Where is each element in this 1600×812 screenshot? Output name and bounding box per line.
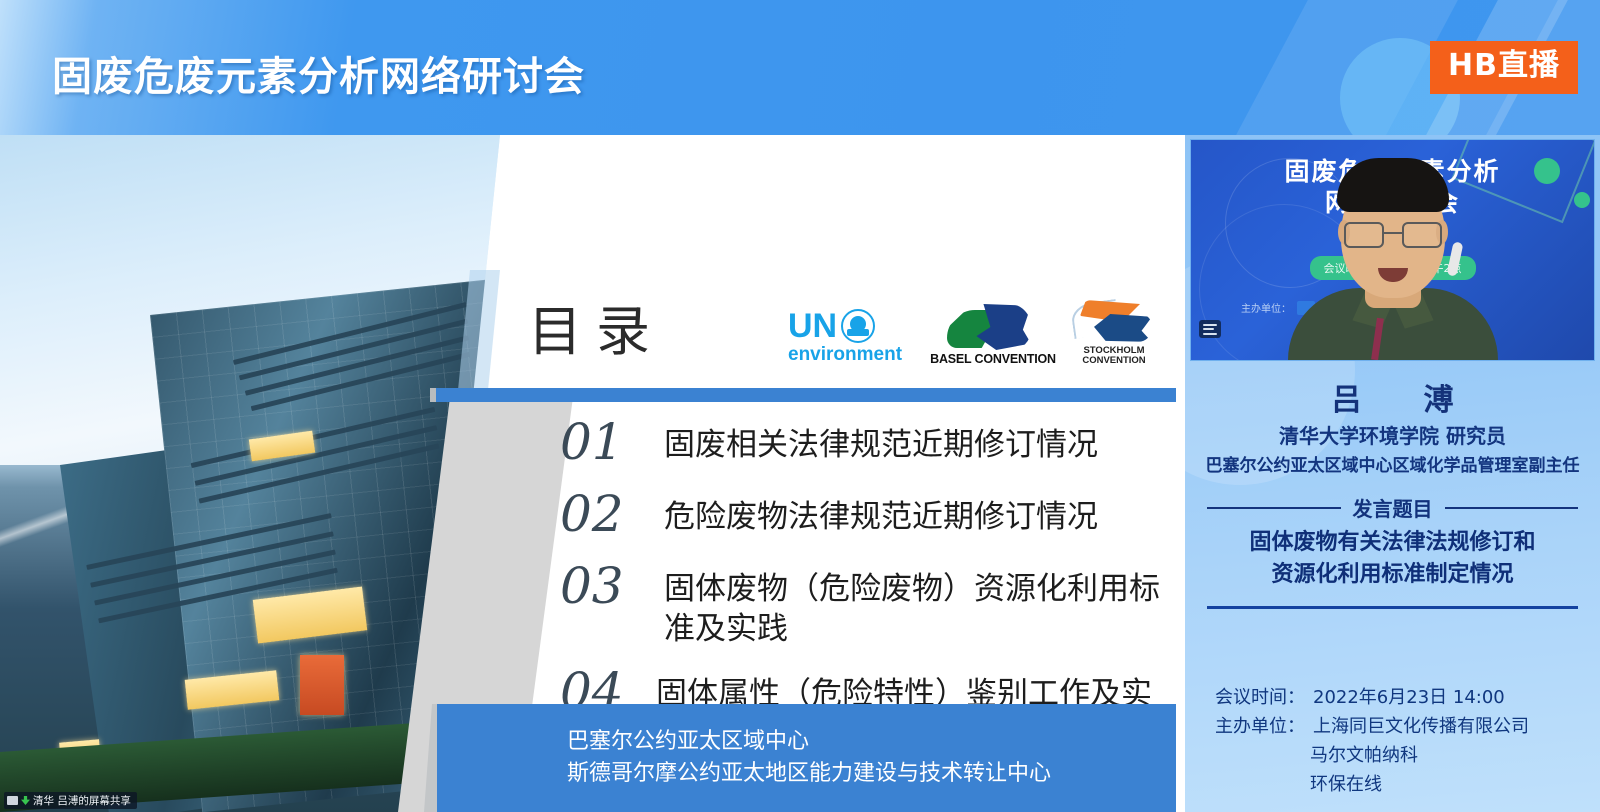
meeting-host-label: 主办单位： xyxy=(1215,712,1305,741)
stockholm-convention-logo: STOCKHOLM CONVENTION xyxy=(1068,298,1160,366)
topic-underline xyxy=(1207,606,1578,609)
meeting-host-value2: 马尔文帕纳科 xyxy=(1215,741,1529,770)
page-title: 固废危废元素分析网络研讨会 xyxy=(52,44,585,102)
agenda-item: 03 固体废物（危险废物）资源化利用标准及实践 xyxy=(560,561,1170,650)
speaker-name: 吕 溥 xyxy=(1185,375,1600,419)
download-arrow-icon xyxy=(21,796,30,805)
stockholm-logo-line2: CONVENTION xyxy=(1068,356,1160,366)
agenda-item: 01 固废相关法律规范近期修订情况 xyxy=(560,417,1170,467)
divider-line xyxy=(1207,507,1341,509)
meeting-info: 会议时间： 2022年6月23日 14:00 主办单位： 上海同巨文化传播有限公… xyxy=(1215,683,1529,800)
organization-logos: UN environment BASEL CONVENTION xyxy=(788,298,1160,366)
speaker-topic-title: 固体废物有关法律法规修订和 资源化利用标准制定情况 xyxy=(1199,527,1586,591)
un-logo-subtext: environment xyxy=(788,344,918,366)
screen-share-indicator[interactable]: 清华 吕溥的屏幕共享 xyxy=(4,792,137,809)
agenda-item-label: 固废相关法律规范近期修订情况 xyxy=(664,417,1098,465)
slide-footer-line2: 斯德哥尔摩公约亚太地区能力建设与技术转让中心 xyxy=(567,758,1051,790)
speaker-figure xyxy=(1288,160,1498,360)
un-logo-word: UN xyxy=(788,311,837,342)
agenda-item-label: 危险废物法律规范近期修订情况 xyxy=(664,489,1098,537)
speaker-organization: 巴塞尔公约亚太区域中心区域化学品管理室副主任 xyxy=(1185,451,1600,476)
earpiece-icon xyxy=(1446,241,1463,276)
monitor-icon xyxy=(7,796,18,805)
live-badge: HB直播 xyxy=(1430,41,1578,94)
meeting-host-row: 主办单位： 上海同巨文化传播有限公司 xyxy=(1215,712,1529,741)
glasses-icon xyxy=(1344,222,1442,248)
video-menu-icon[interactable] xyxy=(1199,320,1221,338)
speaker-panel: 固废危废元素分析 网络研讨会 会议时间：6月23日下午2点 主办单位： xyxy=(1185,135,1600,812)
basel-convention-logo: BASEL CONVENTION xyxy=(928,304,1058,366)
meeting-time-row: 会议时间： 2022年6月23日 14:00 xyxy=(1215,683,1529,712)
shared-slide[interactable]: 目录 UN environment BASEL CONVENTION xyxy=(0,135,1176,812)
speaker-role: 清华大学环境学院 研究员 xyxy=(1185,420,1600,449)
meeting-time-label: 会议时间： xyxy=(1215,683,1305,712)
meeting-time-value: 2022年6月23日 14:00 xyxy=(1305,683,1505,712)
speaker-topic-line1: 固体废物有关法律法规修订和 xyxy=(1199,527,1586,559)
lit-window xyxy=(300,655,344,715)
screen-share-label: 清华 吕溥的屏幕共享 xyxy=(33,793,131,808)
agenda-item-number: 02 xyxy=(560,489,664,539)
video-backdrop-host-label: 主办单位： xyxy=(1241,300,1291,315)
slide-heading: 目录 xyxy=(528,287,664,366)
speaker-topic-line2: 资源化利用标准制定情况 xyxy=(1199,559,1586,591)
un-emblem-icon xyxy=(841,309,875,343)
speaker-hair xyxy=(1337,158,1449,212)
agenda-item: 02 危险废物法律规范近期修订情况 xyxy=(560,489,1170,539)
agenda-item-number: 03 xyxy=(560,561,664,611)
agenda-item-label: 固体废物（危险废物）资源化利用标准及实践 xyxy=(664,561,1170,650)
topic-divider: 发言题目 xyxy=(1207,493,1578,522)
stockholm-mark-icon xyxy=(1072,298,1156,344)
meeting-host-value3: 环保在线 xyxy=(1215,770,1529,799)
page-header: 固废危废元素分析网络研讨会 HB直播 xyxy=(0,0,1600,135)
title-rule xyxy=(436,388,1176,402)
speaker-video-tile[interactable]: 固废危废元素分析 网络研讨会 会议时间：6月23日下午2点 主办单位： xyxy=(1190,139,1595,361)
meeting-host-value: 上海同巨文化传播有限公司 xyxy=(1305,712,1529,741)
basel-mark-icon xyxy=(947,304,1039,350)
topic-divider-label: 发言题目 xyxy=(1353,493,1433,522)
basel-logo-text: BASEL CONVENTION xyxy=(928,352,1058,366)
slide-footer: 巴塞尔公约亚太区域中心 斯德哥尔摩公约亚太地区能力建设与技术转让中心 xyxy=(437,704,1176,812)
un-environment-logo: UN environment xyxy=(788,309,918,366)
livestream-screen: 固废危废元素分析网络研讨会 HB直播 xyxy=(0,0,1600,812)
agenda-item-number: 01 xyxy=(560,417,664,467)
slide-footer-line1: 巴塞尔公约亚太区域中心 xyxy=(567,726,1051,758)
divider-line xyxy=(1445,507,1579,509)
